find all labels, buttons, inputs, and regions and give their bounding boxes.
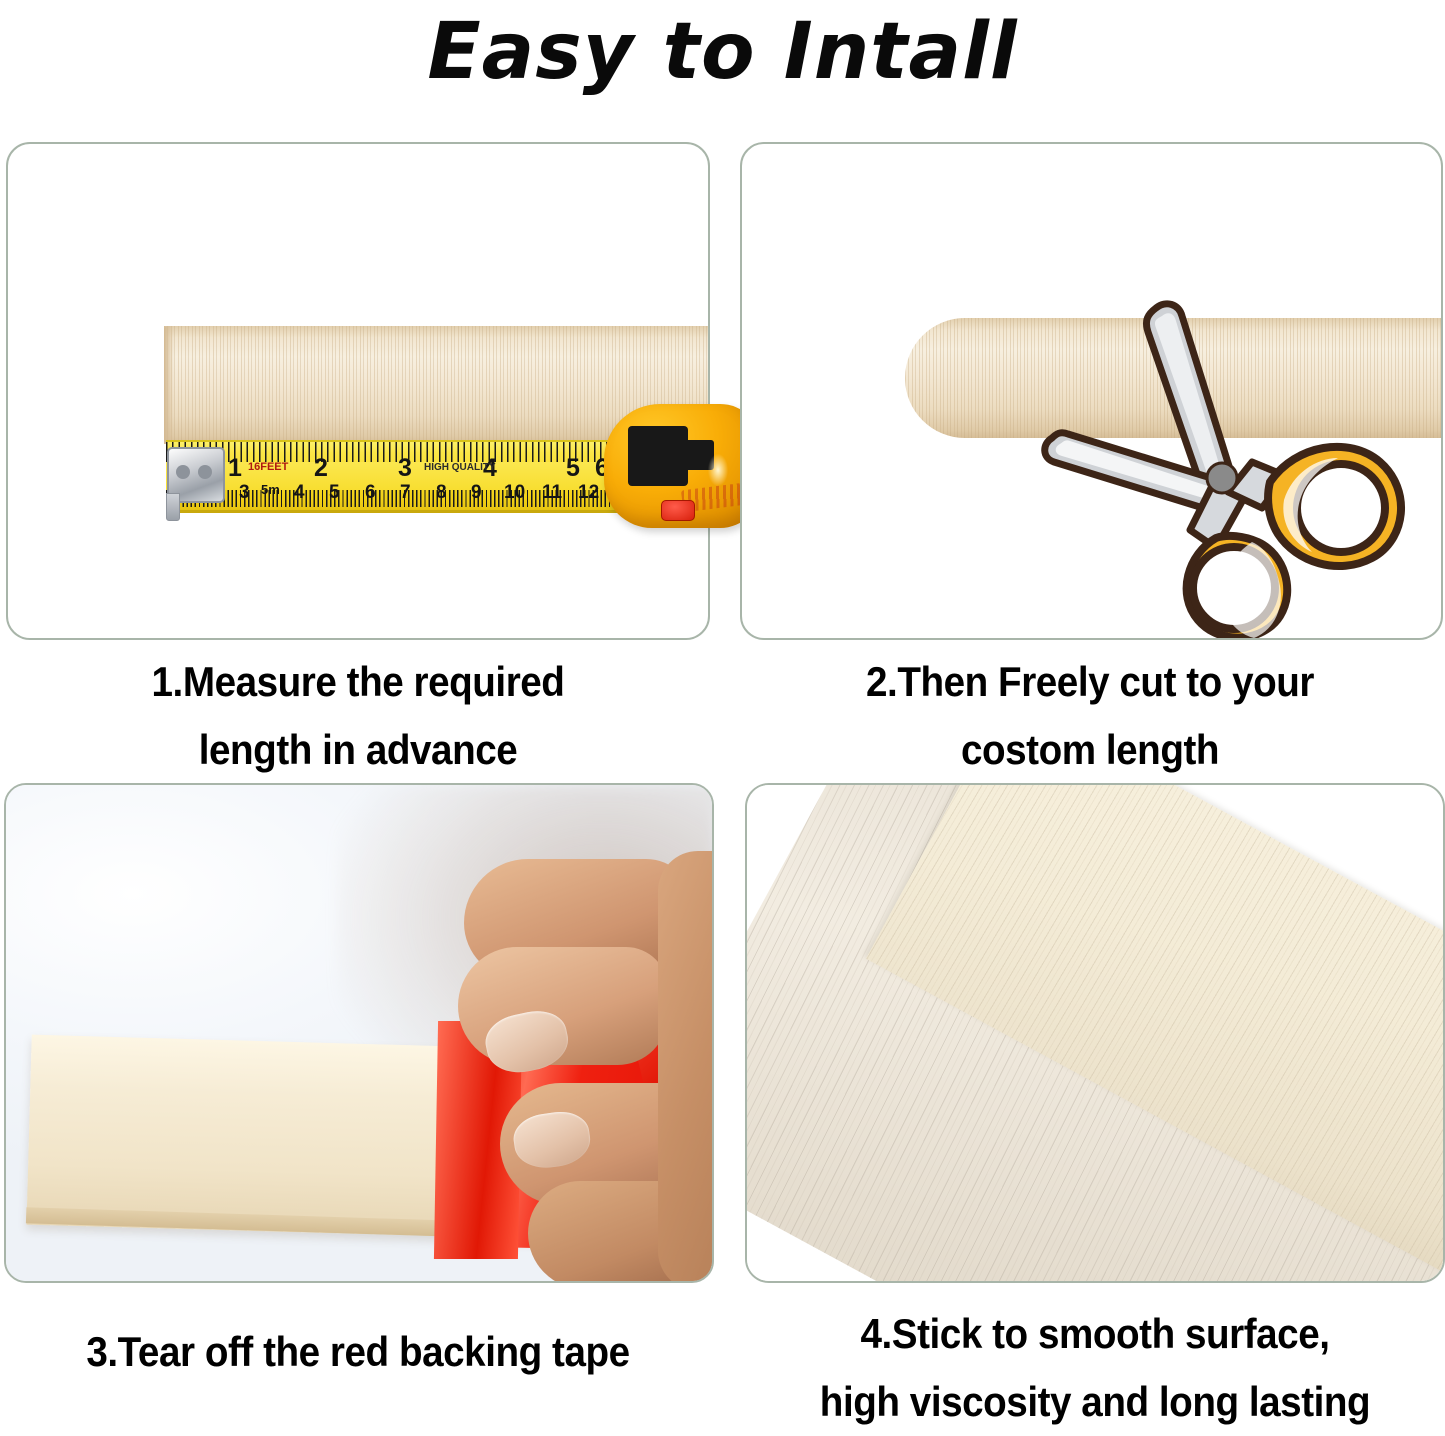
step-3-caption: 3.Tear off the red backing tape bbox=[29, 1318, 688, 1386]
tape-metric-label: 5m bbox=[261, 483, 280, 496]
tape-metric-6: 6 bbox=[365, 483, 376, 502]
step-1-caption-line-1: 1.Measure the required bbox=[47, 648, 669, 716]
step-1-caption-line-2: length in advance bbox=[47, 716, 669, 784]
scissors-icon bbox=[1038, 286, 1442, 638]
tape-metric-9: 9 bbox=[471, 483, 482, 502]
hand bbox=[458, 851, 714, 1283]
tape-measure-lock-lever bbox=[628, 426, 688, 486]
step-panel-4 bbox=[745, 783, 1445, 1283]
tape-quality-text: HIGH QUALITY bbox=[424, 463, 496, 473]
step-panel-3 bbox=[4, 783, 714, 1283]
step-4-caption-line-2: high viscosity and long lasting bbox=[773, 1368, 1417, 1436]
tape-metric-10: 10 bbox=[504, 483, 525, 502]
tape-brand-text: 16FEET bbox=[248, 462, 288, 473]
tape-metric-12: 12 bbox=[578, 483, 599, 502]
step-2-caption-line-1: 2.Then Freely cut to your bbox=[777, 648, 1403, 716]
tape-inch-3: 3 bbox=[398, 456, 412, 481]
tape-measure-release-button bbox=[661, 500, 695, 521]
tape-metric-8: 8 bbox=[436, 483, 447, 502]
tape-measure-highlight bbox=[708, 454, 728, 486]
tape-inch-1: 1 bbox=[228, 456, 242, 481]
tape-metric-11: 11 bbox=[542, 483, 562, 502]
photo-clip bbox=[747, 785, 1443, 1281]
tape-number-row: 1 2 3 4 5 6 16FEET HIGH QUALITY 2 3 5m 4… bbox=[166, 442, 636, 510]
step-4-caption-line-1: 4.Stick to smooth surface, bbox=[773, 1300, 1417, 1368]
step-2-caption-line-2: costom length bbox=[777, 716, 1403, 784]
page-title: Easy to Intall bbox=[0, 4, 1445, 100]
step-1-caption: 1.Measure the required length in advance bbox=[47, 648, 669, 784]
tape-measure-blade: 1 2 3 4 5 6 16FEET HIGH QUALITY 2 3 5m 4… bbox=[166, 440, 636, 513]
step-4-caption: 4.Stick to smooth surface, high viscosit… bbox=[773, 1300, 1417, 1436]
tape-metric-4: 4 bbox=[294, 483, 305, 502]
step-2-caption: 2.Then Freely cut to your costom length bbox=[777, 648, 1403, 784]
palm bbox=[658, 851, 714, 1283]
step-3-caption-line-1: 3.Tear off the red backing tape bbox=[29, 1318, 688, 1386]
tape-metric-5: 5 bbox=[329, 483, 340, 502]
tape-metric-7: 7 bbox=[400, 483, 411, 502]
tape-measure-case bbox=[604, 404, 762, 528]
tape-measure-hook-lip bbox=[166, 493, 180, 521]
tape-inch-2: 2 bbox=[314, 456, 328, 481]
tape-inch-5: 5 bbox=[566, 456, 580, 481]
step-panel-1 bbox=[6, 142, 710, 640]
tape-metric-3: 3 bbox=[239, 483, 250, 502]
